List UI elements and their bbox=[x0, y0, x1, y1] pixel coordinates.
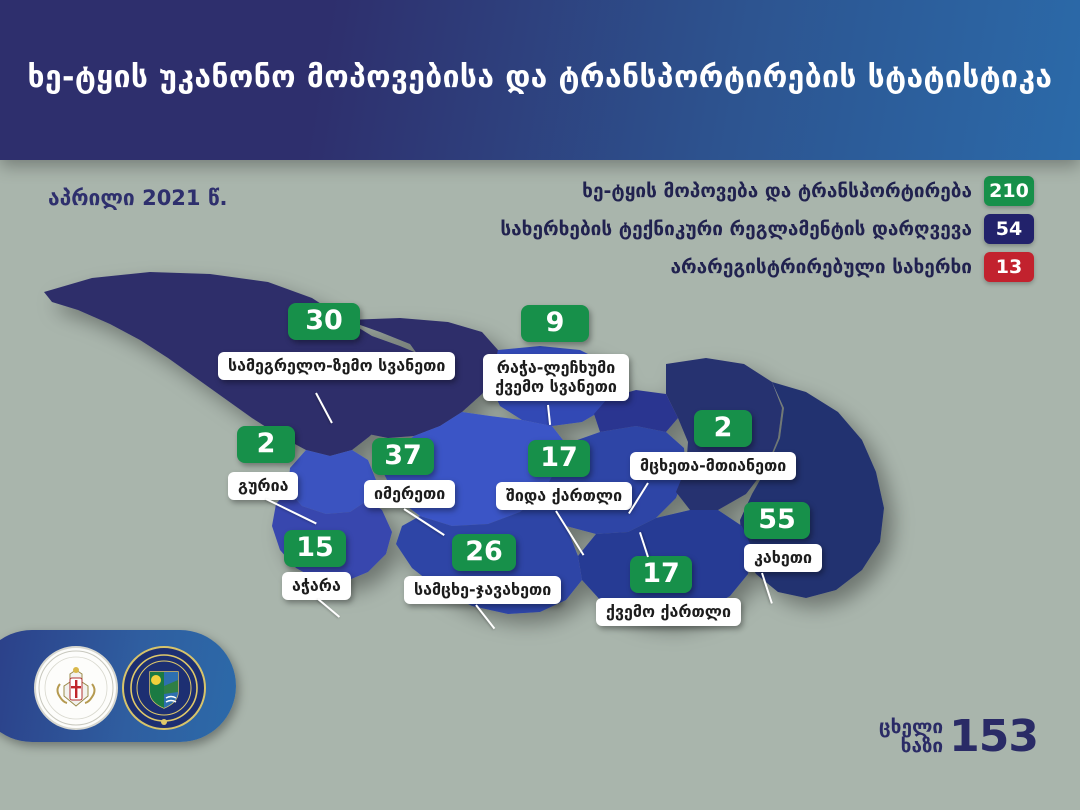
hotline-number: 153 bbox=[949, 711, 1038, 762]
legend-item-sawmill-regulation: სახერხების ტექნიკური რეგლამენტის დარღვევ… bbox=[500, 214, 1034, 244]
callout-value: 55 bbox=[744, 502, 810, 539]
callout-value: 37 bbox=[372, 438, 434, 475]
header-banner: ხე-ტყის უკანონო მოპოვებისა და ტრანსპორტი… bbox=[0, 0, 1080, 160]
legend-badge-green: 210 bbox=[984, 176, 1034, 206]
callout-value: 9 bbox=[521, 305, 589, 342]
hotline: ცხელი ხაზი 153 bbox=[879, 711, 1038, 762]
callout-label: კახეთი bbox=[744, 544, 822, 572]
legend: ხე-ტყის მოპოვება და ტრანსპორტირება 210 ს… bbox=[500, 176, 1034, 290]
callout-label: სამეგრელო-ზემო სვანეთი bbox=[218, 352, 455, 380]
callout-label: რაჭა-ლეჩხუმი ქვემო სვანეთი bbox=[483, 354, 629, 401]
legend-badge-red: 13 bbox=[984, 252, 1034, 282]
legend-item-unregistered-sawmill: არარეგისტრირებული სახერხი 13 bbox=[500, 252, 1034, 282]
legend-badge-navy: 54 bbox=[984, 214, 1034, 244]
date-label: აპრილი 2021 წ. bbox=[48, 186, 227, 210]
hotline-words: ცხელი ხაზი bbox=[879, 718, 943, 756]
callout-label: გურია bbox=[228, 472, 298, 500]
callout-label: სამცხე-ჯავახეთი bbox=[404, 576, 561, 604]
page-title: ხე-ტყის უკანონო მოპოვებისა და ტრანსპორტი… bbox=[0, 60, 1080, 95]
legend-label: არარეგისტრირებული სახერხი bbox=[671, 256, 973, 278]
callout-value: 26 bbox=[452, 534, 516, 571]
callout-value: 17 bbox=[630, 556, 692, 593]
infographic-page: ხე-ტყის უკანონო მოპოვებისა და ტრანსპორტი… bbox=[0, 0, 1080, 810]
callout-label: ქვემო ქართლი bbox=[596, 598, 741, 626]
legend-label: ხე-ტყის მოპოვება და ტრანსპორტირება bbox=[582, 180, 972, 202]
hotline-line2: ხაზი bbox=[879, 737, 943, 756]
ministry-emblem-icon bbox=[34, 646, 118, 730]
callout-label: მცხეთა-მთიანეთი bbox=[630, 452, 796, 480]
callout-label: შიდა ქართლი bbox=[496, 482, 632, 510]
callout-label: აჭარა bbox=[282, 572, 351, 600]
callout-label: იმერეთი bbox=[364, 480, 455, 508]
hotline-line1: ცხელი bbox=[879, 718, 943, 737]
callout-value: 17 bbox=[528, 440, 590, 477]
callout-value: 2 bbox=[237, 426, 295, 463]
supervision-emblem-icon bbox=[122, 646, 206, 730]
legend-label: სახერხების ტექნიკური რეგლამენტის დარღვევ… bbox=[500, 218, 972, 240]
legend-item-violations: ხე-ტყის მოპოვება და ტრანსპორტირება 210 bbox=[500, 176, 1034, 206]
callout-value: 15 bbox=[284, 530, 346, 567]
callout-value: 30 bbox=[288, 303, 360, 340]
callout-value: 2 bbox=[694, 410, 752, 447]
logo-pill bbox=[0, 630, 236, 742]
